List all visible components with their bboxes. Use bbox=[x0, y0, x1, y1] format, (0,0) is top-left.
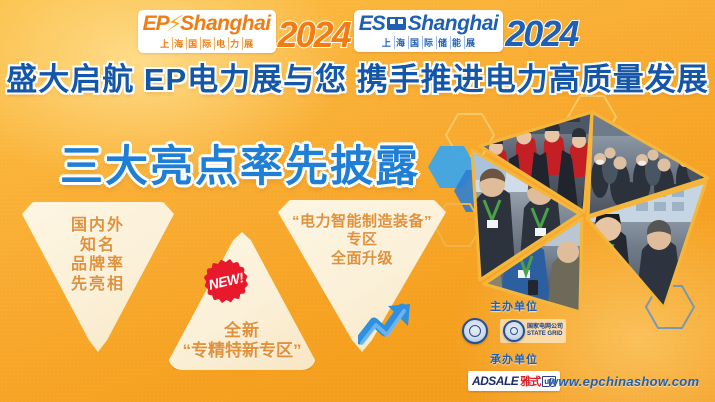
ep-cn-char: 力 bbox=[228, 37, 240, 50]
es-cn-char: 际 bbox=[422, 36, 434, 49]
highlight-line: 先亮相 bbox=[22, 275, 174, 295]
highlight-line: 国内外 bbox=[22, 216, 174, 236]
coorganizer-label: 承办单位 bbox=[424, 351, 604, 367]
logo-bar: EP ⚡ Shanghai 上 海 国 际 电 力 展 2024 bbox=[0, 4, 715, 58]
adsale-logo: ADSALE 雅式 ufi bbox=[468, 371, 560, 391]
cec-logo bbox=[462, 318, 488, 344]
ep-chinese-name: 上 海 国 际 电 力 展 bbox=[159, 37, 254, 50]
ep-shanghai-logo: EP ⚡ Shanghai 上 海 国 际 电 力 展 2024 bbox=[138, 10, 350, 53]
organizer-label: 主办单位 bbox=[424, 298, 604, 314]
es-shanghai-logo: ES Shanghai 上 海 国 际 储 能 展 2024 bbox=[354, 10, 578, 52]
highlight-line: 全面升级 bbox=[278, 250, 446, 268]
adsale-word: ADSALE bbox=[472, 374, 518, 388]
state-grid-emblem-icon bbox=[503, 320, 525, 342]
ep-cn-char: 上 bbox=[159, 37, 170, 50]
ep-cn-char: 展 bbox=[242, 37, 254, 50]
ep-cn-char: 国 bbox=[186, 37, 198, 50]
es-chinese-name: 上 海 国 际 储 能 展 bbox=[381, 36, 476, 49]
poster-root: EP ⚡ Shanghai 上 海 国 际 电 力 展 2024 bbox=[0, 0, 715, 402]
state-grid-logo: 国家电网公司 STATE GRID bbox=[500, 319, 566, 343]
es-cn-char: 能 bbox=[450, 36, 462, 49]
es-cn-char: 国 bbox=[408, 36, 420, 49]
highlight-card-1-label: 国内外 知名 品牌率 先亮相 bbox=[22, 216, 174, 294]
es-cn-char: 上 bbox=[381, 36, 392, 49]
exhibition-photo-collage bbox=[432, 104, 715, 316]
es-city: Shanghai bbox=[408, 13, 499, 34]
ep-city: Shanghai bbox=[180, 13, 271, 34]
es-logo-card: ES Shanghai 上 海 国 际 储 能 展 bbox=[354, 10, 504, 52]
es-year: 2024 bbox=[505, 16, 577, 52]
es-cn-char: 海 bbox=[394, 36, 406, 49]
highlight-card-domestic-brands[interactable]: 国内外 知名 品牌率 先亮相 bbox=[22, 202, 174, 352]
battery-icon bbox=[387, 17, 406, 30]
highlight-line: “电力智能制造装备” bbox=[278, 213, 446, 231]
state-grid-cn: 国家电网公司 bbox=[527, 324, 563, 331]
growth-arrow-icon bbox=[358, 300, 420, 348]
organizer-logo-row: 国家电网公司 STATE GRID bbox=[424, 318, 604, 344]
headline: 盛大启航 EP电力展与您 携手推进电力高质量发展 bbox=[0, 62, 715, 98]
state-grid-en: STATE GRID bbox=[527, 331, 563, 338]
es-cn-char: 展 bbox=[464, 36, 476, 49]
highlight-line: 知名 bbox=[22, 236, 174, 256]
highlight-line: 专区 bbox=[278, 231, 446, 249]
ep-cn-char: 际 bbox=[200, 37, 212, 50]
es-abbr: ES bbox=[359, 13, 385, 34]
ep-year: 2024 bbox=[278, 17, 350, 53]
subheadline: 三大亮点率先披露 bbox=[30, 132, 450, 194]
adsale-cn: 雅式 bbox=[520, 373, 540, 389]
ep-cn-char: 电 bbox=[214, 37, 226, 50]
ep-cn-char: 海 bbox=[172, 37, 184, 50]
highlight-card-3-label: “电力智能制造装备” 专区 全面升级 bbox=[278, 213, 446, 268]
ep-logo-card: EP ⚡ Shanghai 上 海 国 际 电 力 展 bbox=[138, 10, 276, 53]
es-cn-char: 储 bbox=[436, 36, 448, 49]
website-url[interactable]: www.epchinashow.com bbox=[548, 374, 699, 389]
highlight-line: 品牌率 bbox=[22, 255, 174, 275]
